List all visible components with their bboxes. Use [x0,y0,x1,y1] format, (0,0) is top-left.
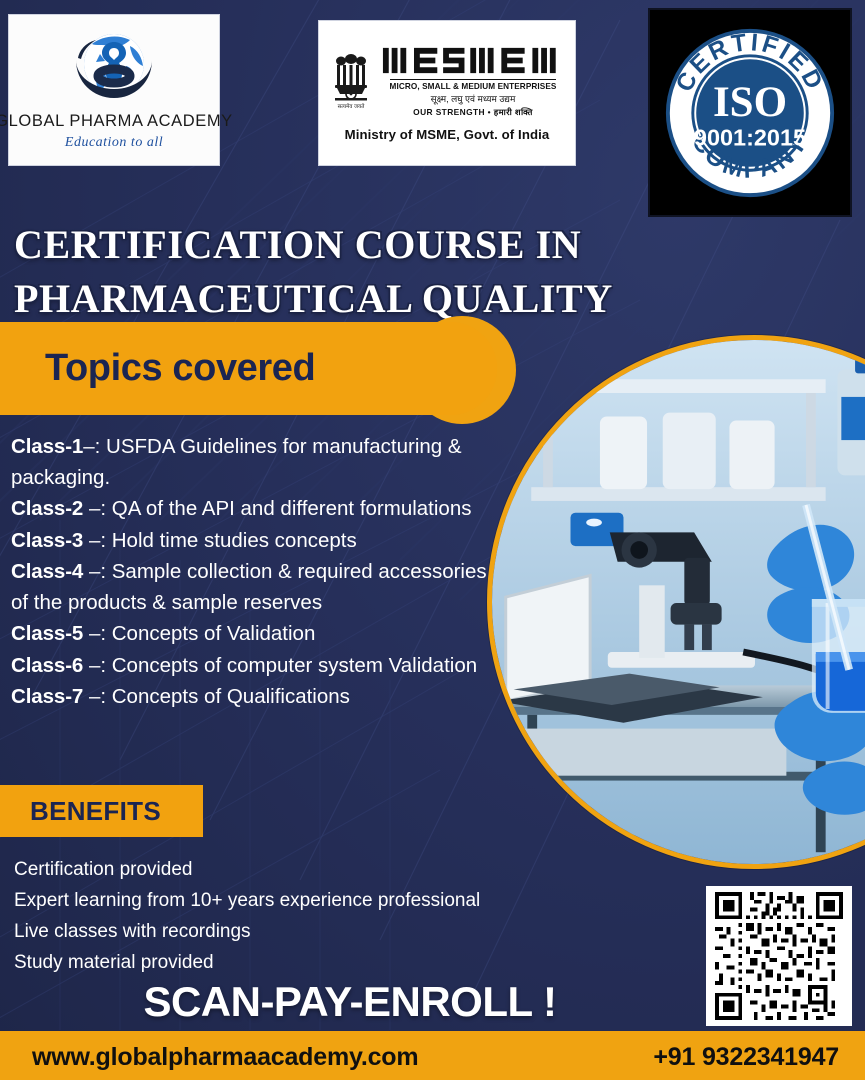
class-label: Class-3 [11,529,83,552]
qr-code-icon [712,892,846,1020]
class-separator: –: [89,685,106,708]
ashoka-emblem-icon: सत्यमेव जयते [329,50,373,112]
list-item: Class-1–: USFDA Guidelines for manufactu… [11,432,491,493]
list-item: Study material provided [14,948,634,979]
class-description: Sample collection & required accessories… [11,560,487,614]
academy-logo-card: GLOBAL PHARMA ACADEMY Education to all [8,14,220,166]
class-label: Class-1 [11,435,83,458]
logo-strip: GLOBAL PHARMA ACADEMY Education to all [0,0,865,225]
msme-subtitle-hi: सूक्ष्म, लघु एवं मध्यम उद्यम [431,92,516,105]
iso-certified-badge-icon: CERTIFIED COMPANY ISO 9001:2015 [662,25,838,201]
class-label: Class-5 [11,622,83,645]
class-label: Class-7 [11,685,83,708]
footer-website[interactable]: www.globalpharmaacademy.com [32,1043,418,1072]
class-label: Class-4 [11,560,83,583]
svg-text:9001:2015: 9001:2015 [694,124,806,150]
class-label: Class-2 [11,497,83,520]
benefits-label: BENEFITS [30,796,161,827]
msme-strength-line: OUR STRENGTH • हमारी शक्ति [413,107,533,118]
topics-covered-label: Topics covered [45,347,315,390]
list-item: Class-3 –: Hold time studies concepts [11,526,491,557]
lab-photo-circle [487,335,865,869]
footer-bar: www.globalpharmaacademy.com +91 93223419… [0,1034,865,1080]
topics-covered-banner: Topics covered [0,322,497,415]
payment-qr-code[interactable] [706,886,852,1026]
benefits-badge: BENEFITS [0,785,203,837]
class-description: QA of the API and different formulations [112,497,472,520]
academy-logo-name: GLOBAL PHARMA ACADEMY [0,112,233,131]
msme-subtitle-en: MICRO, SMALL & MEDIUM ENTERPRISES [390,79,557,91]
msme-logo-card: सत्यमेव जयते [318,20,576,166]
list-item: Class-5 –: Concepts of Validation [11,619,491,650]
class-separator: –: [89,497,106,520]
list-item: Expert learning from 10+ years experienc… [14,886,634,917]
msme-ministry-label: Ministry of MSME, Govt. of India [345,127,550,142]
class-separator: –: [89,560,106,583]
svg-text:ISO: ISO [713,78,787,125]
class-separator: –: [89,622,106,645]
class-list: Class-1–: USFDA Guidelines for manufactu… [11,432,491,714]
list-item: Class-2 –: QA of the API and different f… [11,494,491,525]
page-title-line-1: CERTIFICATION COURSE IN [14,218,854,272]
class-separator: –: [89,654,106,677]
class-description: Concepts of Validation [112,622,316,645]
academy-logo-tagline: Education to all [65,135,163,151]
lab-scientist-photo [492,340,865,864]
list-item: Class-4 –: Sample collection & required … [11,557,491,618]
benefits-list: Certification provided Expert learning f… [14,855,634,979]
list-item: Certification provided [14,855,634,886]
footer-phone[interactable]: +91 9322341947 [653,1043,839,1072]
svg-text:सत्यमेव जयते: सत्यमेव जयते [337,103,365,110]
class-separator: –: [89,529,106,552]
list-item: Live classes with recordings [14,917,634,948]
list-item: Class-6 –: Concepts of computer system V… [11,651,491,682]
class-description: Concepts of computer system Validation [112,654,477,677]
poster-canvas: GLOBAL PHARMA ACADEMY Education to all [0,0,865,1080]
class-description: Concepts of Qualifications [112,685,350,708]
globe-caduceus-logo-icon [58,30,170,110]
list-item: Class-7 –: Concepts of Qualifications [11,682,491,713]
class-label: Class-6 [11,654,83,677]
scan-pay-enroll-cta: SCAN-PAY-ENROLL ! [0,978,700,1026]
class-separator: –: [83,435,100,458]
class-description: Hold time studies concepts [112,529,357,552]
iso-badge-card: CERTIFIED COMPANY ISO 9001:2015 [648,8,852,217]
msme-wordmark-icon [381,44,565,77]
